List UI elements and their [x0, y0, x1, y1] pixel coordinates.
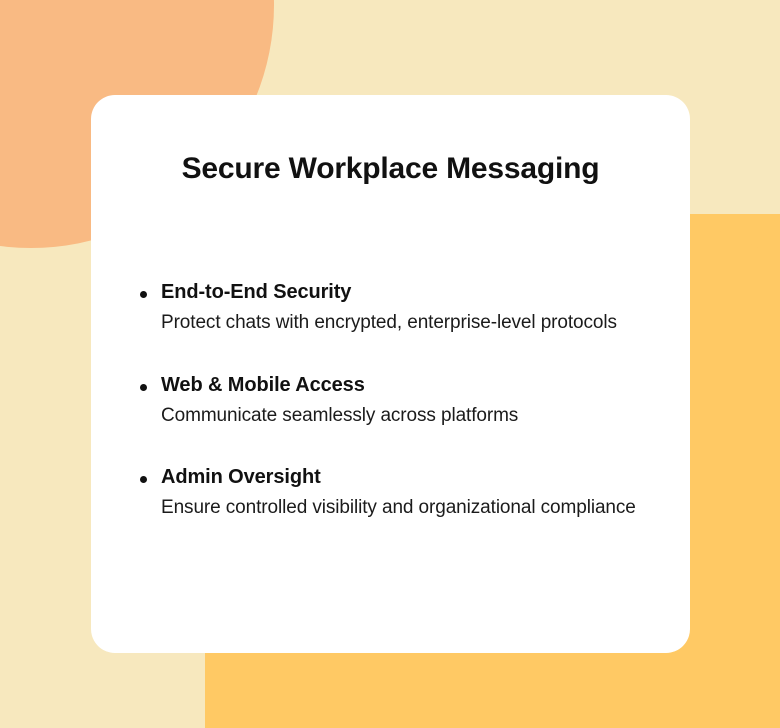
feature-description: Ensure controlled visibility and organiz…: [161, 496, 680, 521]
page-title: Secure Workplace Messaging: [91, 152, 690, 185]
bullet-dot-icon: [140, 476, 147, 483]
list-item: Admin Oversight Ensure controlled visibi…: [113, 465, 680, 521]
list-item: Web & Mobile Access Communicate seamless…: [113, 373, 680, 429]
slide-canvas: Secure Workplace Messaging End-to-End Se…: [0, 0, 780, 728]
list-item: End-to-End Security Protect chats with e…: [113, 280, 680, 336]
feature-list: End-to-End Security Protect chats with e…: [113, 280, 680, 521]
content-card: Secure Workplace Messaging End-to-End Se…: [91, 95, 690, 653]
feature-heading: Admin Oversight: [161, 465, 680, 490]
feature-description: Protect chats with encrypted, enterprise…: [161, 311, 680, 336]
feature-heading: Web & Mobile Access: [161, 373, 680, 398]
feature-description: Communicate seamlessly across platforms: [161, 404, 680, 429]
bullet-dot-icon: [140, 291, 147, 298]
feature-heading: End-to-End Security: [161, 280, 680, 305]
bullet-dot-icon: [140, 384, 147, 391]
